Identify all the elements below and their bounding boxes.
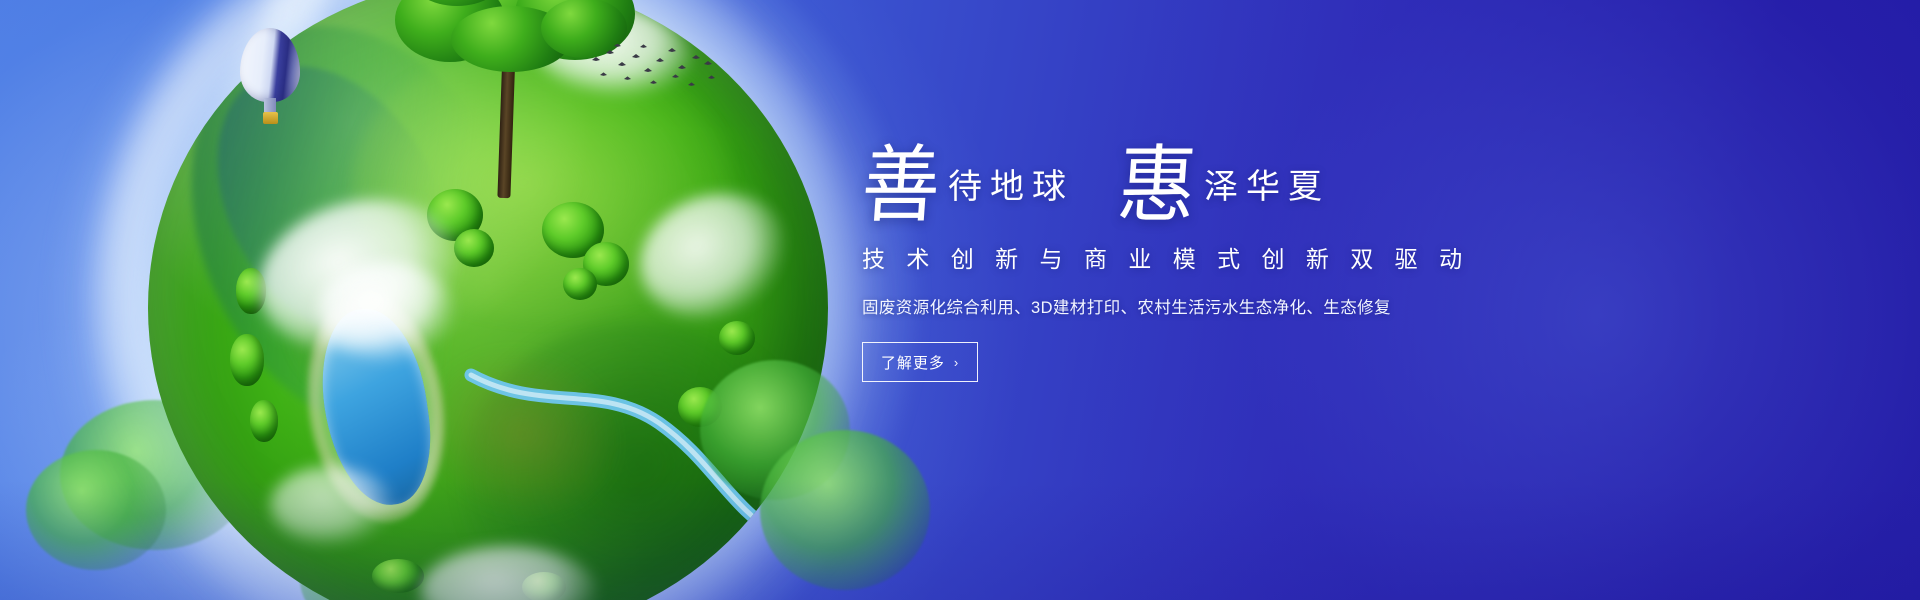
description: 固废资源化综合利用、3D建材打印、农村生活污水生态净化、生态修复 — [862, 294, 1562, 318]
tree-icon — [760, 430, 930, 590]
chevron-right-icon: › — [954, 355, 959, 370]
hero-copy: 善 待地球 惠 泽华夏 技 术 创 新 与 商 业 模 式 创 新 双 驱 动 … — [862, 126, 1562, 382]
tree-icon — [355, 0, 655, 194]
learn-more-button[interactable]: 了解更多 › — [862, 342, 978, 382]
tree-icon — [26, 450, 166, 570]
headline-part-1: 待地球 — [948, 159, 1074, 208]
learn-more-label: 了解更多 — [881, 352, 945, 373]
headline-char-1: 善 — [859, 147, 942, 224]
tagline: 技 术 创 新 与 商 业 模 式 创 新 双 驱 动 — [862, 240, 1562, 274]
headline-char-2: 惠 — [1115, 147, 1198, 224]
page-title: 善 待地球 惠 泽华夏 — [862, 126, 1562, 218]
hero-banner: 善 待地球 惠 泽华夏 技 术 创 新 与 商 业 模 式 创 新 双 驱 动 … — [0, 0, 1920, 600]
headline-part-2: 泽华夏 — [1204, 159, 1330, 208]
hot-air-balloon-icon — [240, 28, 300, 132]
bird-flock-icon — [588, 44, 718, 92]
